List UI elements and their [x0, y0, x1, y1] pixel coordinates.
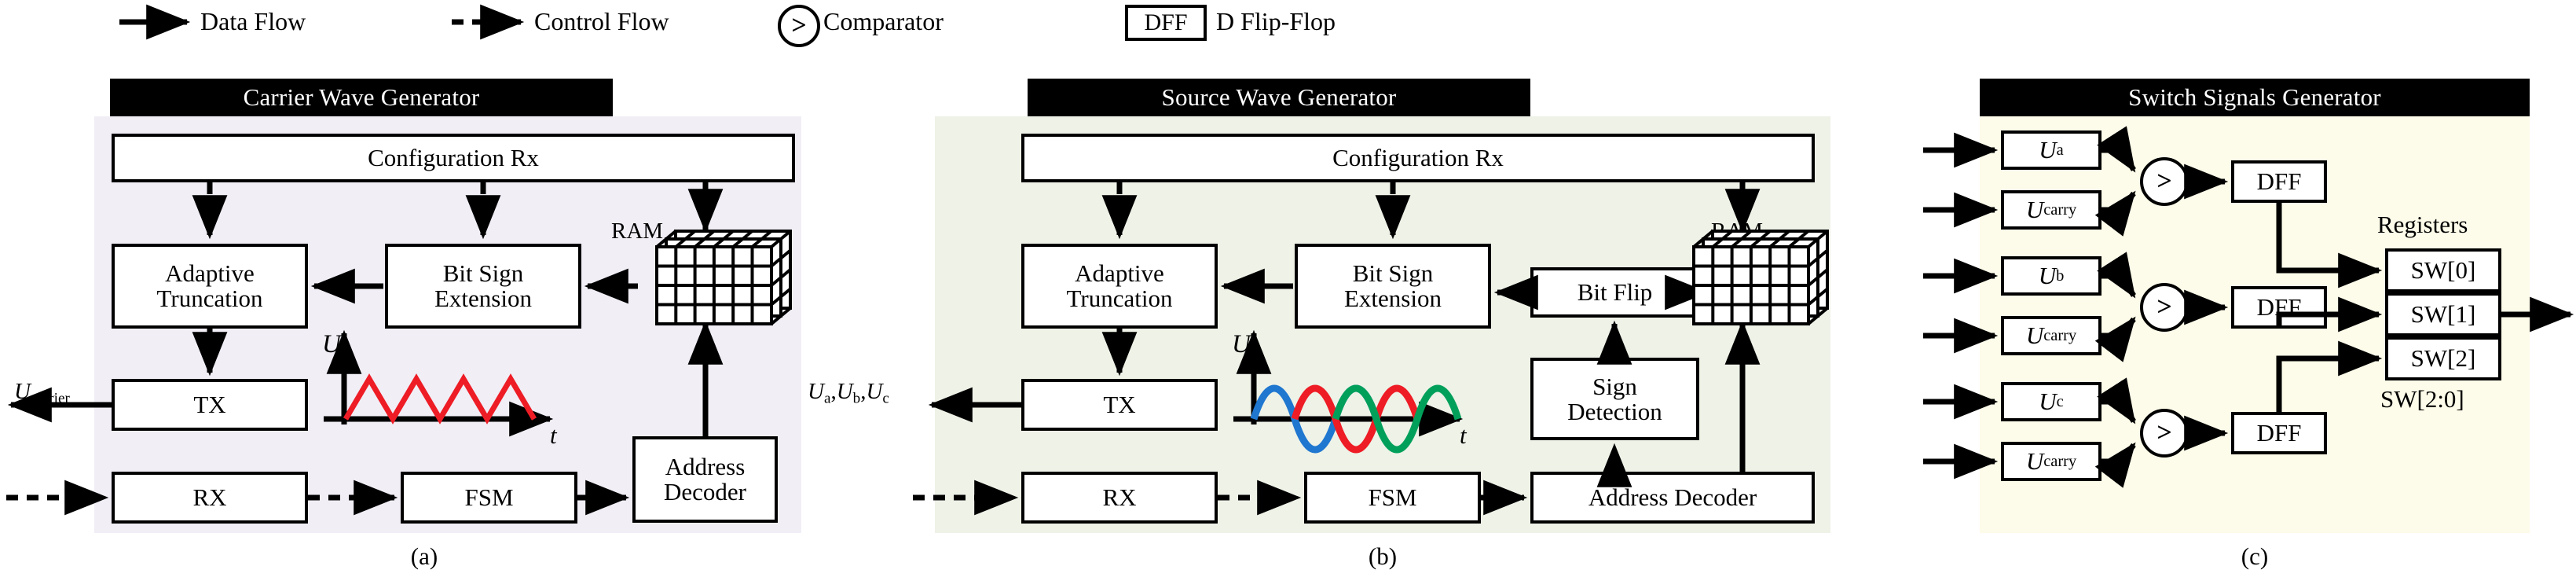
connector-overlay [0, 0, 2576, 588]
panel-c-wire-in0-to-comp0 [2101, 150, 2134, 170]
panel-c-wire-in1-to-comp0 [2101, 193, 2134, 210]
panel-c-wire-in2-to-comp1 [2101, 276, 2134, 296]
panel-c-wire-dff1-to-reg1 [2279, 314, 2379, 329]
panel-c-wire-in4-to-comp2 [2101, 402, 2134, 421]
panel-c-wire-dff2-to-reg2 [2279, 358, 2379, 412]
panel-a-wave-carrier [346, 379, 534, 419]
panel-a-ram-grid [657, 231, 790, 324]
panel-c-wire-in5-to-comp2 [2101, 445, 2134, 461]
panel-c-wire-dff0-to-reg0 [2279, 203, 2379, 270]
panel-c-wire-in3-to-comp1 [2101, 319, 2134, 336]
panel-b-ram-grid [1694, 231, 1827, 324]
